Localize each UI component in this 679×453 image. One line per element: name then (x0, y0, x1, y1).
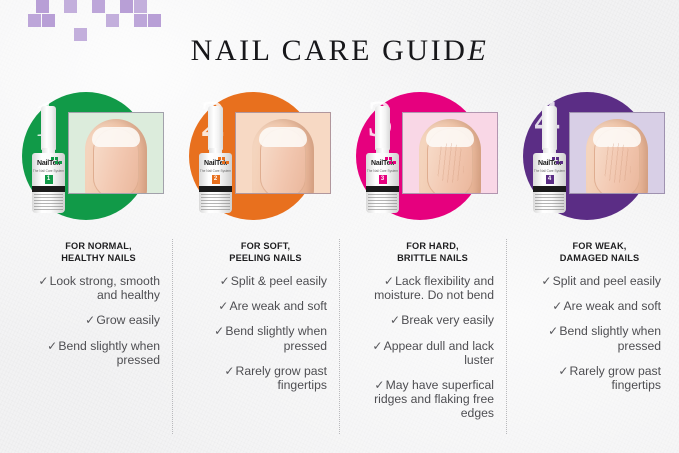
symptom-list: ✓Look strong, smooth and healthy✓Grow ea… (15, 274, 160, 367)
check-icon: ✓ (390, 313, 400, 327)
column-heading: FOR SOFT,PEELING NAILS (182, 241, 327, 264)
nail-ridges (603, 143, 631, 183)
decoration-square (148, 14, 161, 27)
page-title: NAIL CARE GUIDE (0, 34, 679, 68)
fingertip-illustration (419, 119, 481, 194)
symptom-list: ✓Split & peel easily✓Are weak and soft✓B… (182, 274, 327, 392)
symptom-item: ✓Break very easily (349, 313, 494, 327)
decoration-square (28, 14, 41, 27)
symptom-item: ✓Bend slightly when pressed (516, 324, 661, 352)
bottle-fine-print (34, 194, 63, 210)
column-text: FOR WEAK,DAMAGED NAILS✓Split and peel ea… (507, 229, 674, 392)
decoration-square (106, 14, 119, 27)
heading-line-2: BRITTLE NAILS (397, 253, 468, 263)
bottle-number-badge: 3 (379, 175, 387, 184)
symptom-item: ✓May have superfical ridges and flaking … (349, 378, 494, 421)
check-icon: ✓ (85, 313, 95, 327)
symptom-list: ✓Split and peel easily✓Are weak and soft… (516, 274, 661, 392)
bottle-black-band (533, 186, 566, 192)
guide-column-3: 3NailTekThe Nail Care System3FOR HARD,BR… (340, 84, 507, 444)
bottle-black-band (366, 186, 399, 192)
decoration-square (92, 0, 105, 13)
symptom-item: ✓Lack flexibility and moisture. Do not b… (349, 274, 494, 302)
nail-free-edge (259, 127, 307, 147)
heading-line-2: DAMAGED NAILS (560, 253, 640, 263)
check-icon: ✓ (372, 339, 382, 353)
heading-line-1: FOR HARD, (406, 241, 458, 251)
symptom-text: Rarely grow past fingertips (236, 364, 327, 392)
check-icon: ✓ (558, 364, 568, 378)
fingertip-illustration (85, 119, 147, 194)
symptom-text: Bend slightly when pressed (559, 324, 661, 352)
decoration-square (42, 14, 55, 27)
nail-care-guide-poster: NAIL CARE GUIDE 1NailTekThe Nail Care Sy… (0, 0, 679, 453)
check-icon: ✓ (384, 274, 394, 288)
column-text: FOR SOFT,PEELING NAILS✓Split & peel easi… (173, 229, 340, 392)
symptom-text: Rarely grow past fingertips (570, 364, 661, 392)
bottle-body: NailTekThe Nail Care System2 (199, 153, 232, 213)
bottle-body: NailTekThe Nail Care System3 (366, 153, 399, 213)
bottle-tagline: The Nail Care System (32, 169, 65, 173)
symptom-text: Bend slightly when pressed (58, 339, 160, 367)
column-heading: FOR NORMAL,HEALTHY NAILS (15, 241, 160, 264)
check-icon: ✓ (541, 274, 551, 288)
decoration-square (134, 0, 147, 13)
brand-mark-icon (385, 157, 396, 166)
bottle-number-badge: 4 (546, 175, 554, 184)
bottle-cap (542, 106, 557, 150)
symptom-text: Look strong, smooth and healthy (50, 274, 160, 302)
check-icon: ✓ (552, 299, 562, 313)
heading-line-2: HEALTHY NAILS (61, 253, 136, 263)
symptom-item: ✓Rarely grow past fingertips (516, 364, 661, 392)
symptom-text: May have superfical ridges and flaking f… (374, 378, 494, 420)
symptom-item: ✓Grow easily (15, 313, 160, 327)
nail-plate (427, 128, 473, 194)
symptom-item: ✓Bend slightly when pressed (182, 324, 327, 352)
decoration-square (36, 0, 49, 13)
polish-bottle: NailTekThe Nail Care System1 (28, 106, 70, 216)
bottle-tagline: The Nail Care System (533, 169, 566, 173)
brand-mark-icon (218, 157, 229, 166)
column-artwork: 2NailTekThe Nail Care System2 (173, 84, 340, 229)
symptom-list: ✓Lack flexibility and moisture. Do not b… (349, 274, 494, 421)
check-icon: ✓ (218, 299, 228, 313)
bottle-body: NailTekThe Nail Care System4 (533, 153, 566, 213)
brand-mark-icon (552, 157, 563, 166)
column-text: FOR HARD,BRITTLE NAILS✓Lack flexibility … (340, 229, 507, 421)
bottle-tagline: The Nail Care System (366, 169, 399, 173)
symptom-item: ✓Appear dull and lack luster (349, 339, 494, 367)
heading-line-1: FOR WEAK, (573, 241, 627, 251)
bottle-cap (41, 106, 56, 150)
column-heading: FOR WEAK,DAMAGED NAILS (516, 241, 661, 264)
heading-line-2: PEELING NAILS (229, 253, 301, 263)
nail-photo-swatch (402, 112, 498, 194)
column-artwork: 1NailTekThe Nail Care System1 (6, 84, 173, 229)
bottle-number-badge: 1 (45, 175, 53, 184)
nail-ridges (436, 143, 464, 183)
column-text: FOR NORMAL,HEALTHY NAILS✓Look strong, sm… (6, 229, 173, 367)
symptom-item: ✓Look strong, smooth and healthy (15, 274, 160, 302)
symptom-item: ✓Bend slightly when pressed (15, 339, 160, 367)
bottle-fine-print (368, 194, 397, 210)
bottle-tagline: The Nail Care System (199, 169, 232, 173)
symptom-item: ✓Split & peel easily (182, 274, 327, 288)
page-title-italic-tail: E (468, 34, 489, 67)
guide-column-2: 2NailTekThe Nail Care System2FOR SOFT,PE… (173, 84, 340, 444)
decoration-square (120, 0, 133, 13)
symptom-text: Split & peel easily (231, 274, 327, 288)
nail-free-edge (92, 127, 140, 147)
nail-photo-swatch (235, 112, 331, 194)
heading-line-1: FOR SOFT, (241, 241, 290, 251)
column-artwork: 3NailTekThe Nail Care System3 (340, 84, 507, 229)
page-title-main: NAIL CARE GUID (191, 34, 468, 67)
bottle-number-badge: 2 (212, 175, 220, 184)
polish-bottle: NailTekThe Nail Care System3 (362, 106, 404, 216)
fingertip-illustration (586, 119, 648, 194)
nail-plate (594, 128, 640, 194)
check-icon: ✓ (214, 324, 224, 338)
nail-plate (93, 128, 139, 194)
guide-column-1: 1NailTekThe Nail Care System1FOR NORMAL,… (6, 84, 173, 444)
bottle-cap (375, 106, 390, 150)
column-heading: FOR HARD,BRITTLE NAILS (349, 241, 494, 264)
brand-mark-icon (51, 157, 62, 166)
decoration-square (134, 14, 147, 27)
fingertip-illustration (252, 119, 314, 194)
symptom-text: Are weak and soft (563, 299, 661, 313)
symptom-text: Are weak and soft (229, 299, 327, 313)
bottle-black-band (199, 186, 232, 192)
check-icon: ✓ (220, 274, 230, 288)
decoration-square (64, 0, 77, 13)
bottle-body: NailTekThe Nail Care System1 (32, 153, 65, 213)
symptom-item: ✓Are weak and soft (182, 299, 327, 313)
bottle-black-band (32, 186, 65, 192)
guide-column-4: 4NailTekThe Nail Care System4FOR WEAK,DA… (507, 84, 674, 444)
symptom-text: Split and peel easily (553, 274, 661, 288)
bottle-cap (208, 106, 223, 150)
check-icon: ✓ (224, 364, 234, 378)
nail-photo-swatch (569, 112, 665, 194)
symptom-item: ✓Rarely grow past fingertips (182, 364, 327, 392)
bottle-fine-print (535, 194, 564, 210)
symptom-item: ✓Are weak and soft (516, 299, 661, 313)
check-icon: ✓ (548, 324, 558, 338)
symptom-item: ✓Split and peel easily (516, 274, 661, 288)
nail-photo-swatch (68, 112, 164, 194)
nail-plate (260, 128, 306, 194)
check-icon: ✓ (374, 378, 384, 392)
check-icon: ✓ (38, 274, 48, 288)
column-artwork: 4NailTekThe Nail Care System4 (507, 84, 674, 229)
symptom-text: Break very easily (401, 313, 494, 327)
check-icon: ✓ (47, 339, 57, 353)
symptom-text: Grow easily (96, 313, 160, 327)
heading-line-1: FOR NORMAL, (65, 241, 131, 251)
bottle-fine-print (201, 194, 230, 210)
symptom-text: Appear dull and lack luster (384, 339, 494, 367)
symptom-text: Bend slightly when pressed (225, 324, 327, 352)
polish-bottle: NailTekThe Nail Care System4 (529, 106, 571, 216)
polish-bottle: NailTekThe Nail Care System2 (195, 106, 237, 216)
guide-columns: 1NailTekThe Nail Care System1FOR NORMAL,… (6, 84, 673, 444)
